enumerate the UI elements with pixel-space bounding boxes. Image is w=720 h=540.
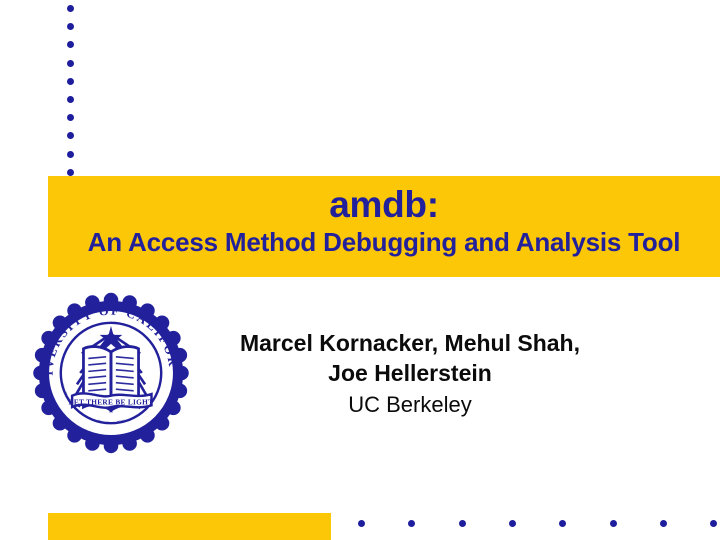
affiliation: UC Berkeley — [210, 391, 610, 420]
svg-text:LET THERE BE LIGHT: LET THERE BE LIGHT — [69, 399, 154, 407]
decor-dot — [408, 520, 415, 527]
byline-block: Marcel Kornacker, Mehul Shah, Joe Heller… — [210, 328, 610, 419]
author-line-1: Marcel Kornacker, Mehul Shah, — [240, 330, 580, 356]
decor-dot — [559, 520, 566, 527]
author-line-2: Joe Hellerstein — [210, 358, 610, 388]
decor-dot — [660, 520, 667, 527]
decor-dot — [67, 60, 74, 67]
decor-dot — [67, 169, 74, 176]
author-names: Marcel Kornacker, Mehul Shah, Joe Heller… — [210, 328, 610, 389]
uc-berkeley-seal-icon: UNIVERSITY OF CALIFORNIA THE · CAL · — [26, 292, 196, 454]
decor-dot — [67, 5, 74, 12]
bottom-accent-bar — [48, 513, 331, 540]
decor-dot — [358, 520, 365, 527]
decor-dot — [509, 520, 516, 527]
decor-dot — [67, 96, 74, 103]
decor-dot — [710, 520, 717, 527]
slide-canvas: amdb: An Access Method Debugging and Ana… — [0, 0, 720, 540]
decor-dot — [67, 151, 74, 158]
decor-dot — [67, 114, 74, 121]
decor-dot — [610, 520, 617, 527]
bottom-dot-rail — [352, 520, 720, 532]
decor-dot — [67, 23, 74, 30]
page-title: amdb: — [48, 186, 720, 225]
decor-dot — [459, 520, 466, 527]
decor-dot — [67, 41, 74, 48]
title-band: amdb: An Access Method Debugging and Ana… — [48, 176, 720, 277]
decor-dot — [67, 132, 74, 139]
decor-dot — [67, 78, 74, 85]
left-dot-rail — [67, 5, 79, 185]
page-subtitle: An Access Method Debugging and Analysis … — [48, 228, 720, 257]
